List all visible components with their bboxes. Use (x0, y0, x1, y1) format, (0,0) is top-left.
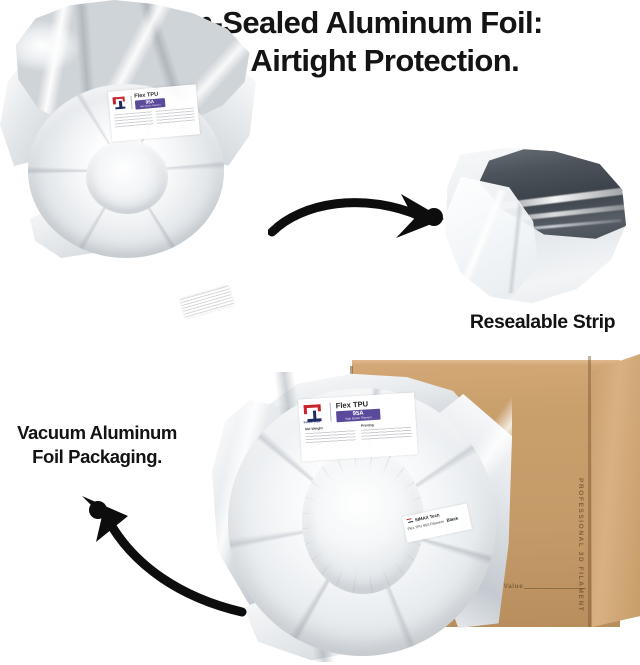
box-right-panel (592, 354, 640, 627)
hardness-badge: 95A High Elastic Filament (135, 98, 166, 110)
spec-lines-left (305, 430, 356, 444)
s-monogram-logo-icon-large: SIMAX Tech (302, 403, 325, 424)
vacuum-sealed-spool-top: Flex TPU 95A High Elastic Filament (0, 0, 256, 258)
callout-vacuum-packaging: Vacuum Aluminum Foil Packaging. (2, 421, 192, 469)
color-label-color-name: Black (446, 516, 459, 523)
product-label-small: Flex TPU 95A High Elastic Filament (108, 84, 200, 141)
box-seam-right (588, 356, 591, 627)
color-label-small (180, 285, 234, 318)
filament-spool-hub (86, 140, 168, 214)
curved-arrow-up-left-icon (66, 494, 256, 626)
s-monogram-logo-icon (111, 95, 128, 111)
s-monogram-logo-icon-mini (405, 517, 413, 524)
product-label-large: SIMAX Tech Flex TPU 95A High Elastic Fil… (298, 393, 418, 462)
callout-resealable-strip: Resealable Strip (450, 310, 635, 334)
label-divider-large (329, 403, 331, 422)
reseal-bag-shape (438, 148, 626, 308)
label-spec-column-right (156, 108, 195, 125)
label-divider (130, 95, 132, 108)
label-spec-column-left (114, 111, 153, 128)
spec-column-left: Net Weight (305, 424, 356, 444)
curved-arrow-right-icon (268, 186, 466, 268)
box-front-rule (524, 588, 586, 589)
color-label-text-lines (180, 285, 234, 318)
resealable-strip-closeup (438, 148, 626, 308)
box-side-text: PROFESSIONAL 3D FILAMENT (577, 478, 584, 612)
product-label-title-large: Flex TPU (335, 396, 410, 410)
product-marketing-image: Vacuum-Sealed Aluminum Foil: Superior Ai… (0, 0, 640, 665)
brand-name-text: SIMAX Tech (304, 420, 321, 424)
spec-lines-right (361, 426, 412, 440)
spec-column-right: Printing (361, 421, 412, 441)
